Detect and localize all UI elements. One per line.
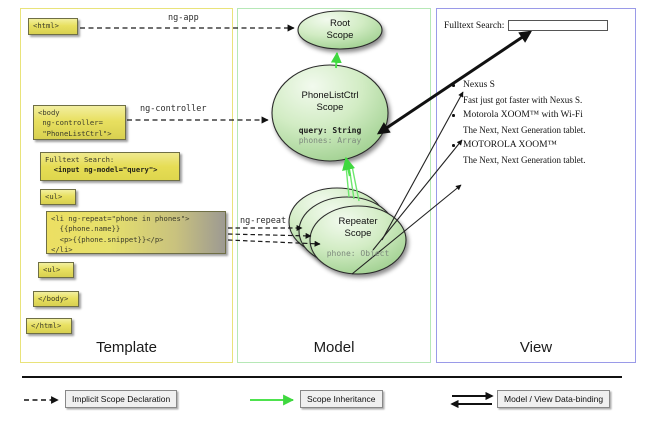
list-item[interactable]: MOTOROLA XOOM™ The Next, Next Generation…	[452, 140, 632, 165]
code-box-ul-close: <ul>	[38, 262, 74, 278]
phone-snippet: Fast just got faster with Nexus S.	[452, 95, 632, 105]
panel-template: Template	[20, 8, 233, 363]
phone-name: MOTOROLA XOOM™	[452, 140, 632, 150]
connector-label-ng-repeat: ng-repeat	[240, 216, 286, 226]
panel-view-title: View	[437, 339, 635, 356]
phone-snippet: The Next, Next Generation tablet.	[452, 155, 632, 165]
view-search-input[interactable]	[508, 20, 608, 31]
connector-label-ng-controller: ng-controller	[140, 104, 207, 114]
phone-name: Nexus S	[452, 80, 632, 90]
phone-name: Motorola XOOM™ with Wi-Fi	[452, 110, 632, 120]
search-box-line-1: Fulltext Search:	[45, 155, 114, 164]
bullet-icon	[452, 84, 455, 87]
code-box-html-close: </html>	[26, 318, 72, 334]
list-item[interactable]: Nexus S Fast just got faster with Nexus …	[452, 80, 632, 105]
code-box-body-open: <body ng-controller= "PhoneListCtrl">	[33, 105, 126, 140]
legend-divider	[22, 376, 622, 378]
code-box-fulltext-search: Fulltext Search: <input ng-model="query"…	[40, 152, 180, 181]
panel-template-title: Template	[21, 339, 232, 356]
legend-model-view-data-binding: Model / View Data-binding	[497, 390, 610, 408]
legend-implicit-scope-declaration: Implicit Scope Declaration	[65, 390, 177, 408]
bullet-icon	[452, 144, 455, 147]
list-item[interactable]: Motorola XOOM™ with Wi-Fi The Next, Next…	[452, 110, 632, 135]
bullet-icon	[452, 114, 455, 117]
view-search-row: Fulltext Search:	[444, 20, 608, 31]
view-search-label: Fulltext Search:	[444, 21, 504, 31]
code-box-body-close: </body>	[33, 291, 79, 307]
view-phone-list: Nexus S Fast just got faster with Nexus …	[452, 80, 632, 170]
code-box-html-open: <html>	[28, 18, 78, 35]
code-box-ul-open: <ul>	[40, 189, 76, 205]
panel-model: Model	[237, 8, 431, 363]
connector-label-ng-app: ng-app	[168, 13, 199, 23]
panel-view: View	[436, 8, 636, 363]
phone-snippet: The Next, Next Generation tablet.	[452, 125, 632, 135]
legend-scope-inheritance: Scope Inheritance	[300, 390, 383, 408]
search-box-line-2: <input ng-model="query">	[54, 165, 158, 174]
code-box-li-ng-repeat: <li ng-repeat="phone in phones"> {{phone…	[46, 211, 226, 254]
panel-model-title: Model	[238, 339, 430, 356]
angularjs-scope-diagram: Template Model View <html> <body ng-cont…	[0, 0, 645, 425]
